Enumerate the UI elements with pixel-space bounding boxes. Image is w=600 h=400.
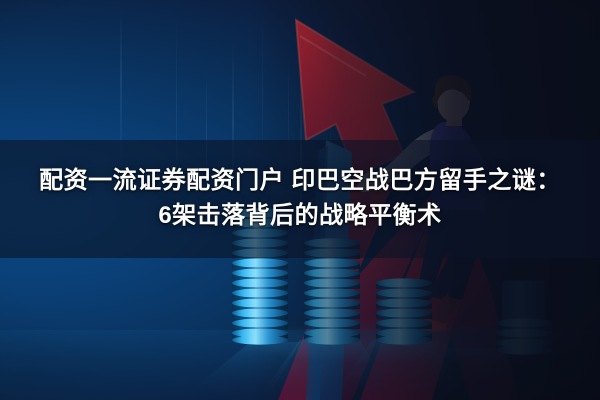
headline: 配资一流证券配资门户 印巴空战巴方留手之谜： 6架击落背后的战略平衡术 — [0, 140, 600, 258]
cover-image: 配资一流证券配资门户 印巴空战巴方留手之谜： 6架击落背后的战略平衡术 — [0, 0, 600, 400]
headline-line-1: 配资一流证券配资门户 印巴空战巴方留手之谜： — [39, 166, 561, 197]
headline-line-2: 6架击落背后的战略平衡术 — [158, 201, 441, 232]
